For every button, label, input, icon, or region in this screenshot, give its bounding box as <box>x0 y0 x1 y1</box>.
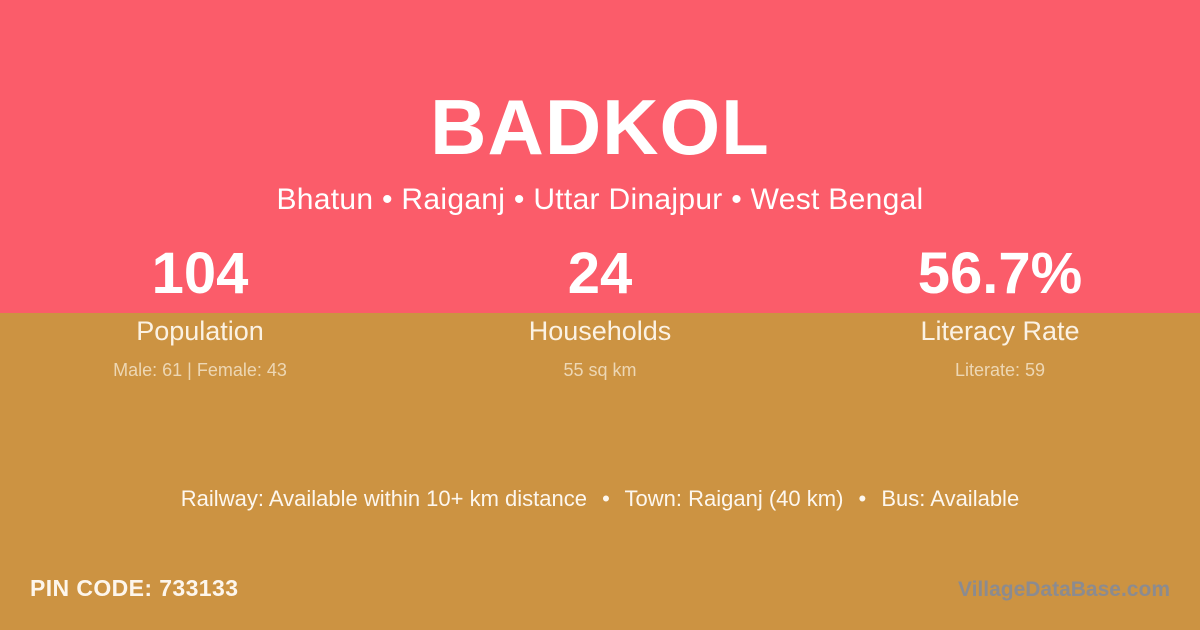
brand-watermark: VillageDataBase.com <box>958 576 1170 603</box>
stat-sub: 55 sq km <box>400 361 800 379</box>
village-info-card: BADKOL Bhatun • Raiganj • Uttar Dinajpur… <box>0 0 1200 630</box>
stat-value: 56.7% <box>800 245 1200 307</box>
stat-label: Literacy Rate <box>800 318 1200 345</box>
stat-label: Households <box>400 318 800 345</box>
pin-code: PIN CODE: 733133 <box>30 574 238 604</box>
stat-sub: Male: 61 | Female: 43 <box>0 361 400 379</box>
stats-row: 104 Population Male: 61 | Female: 43 24 … <box>0 245 1200 379</box>
stat-literacy-rate: 56.7% Literacy Rate Literate: 59 <box>800 245 1200 379</box>
stat-sub: Literate: 59 <box>800 361 1200 379</box>
page-title: BADKOL <box>0 88 1200 166</box>
stat-population: 104 Population Male: 61 | Female: 43 <box>0 245 400 379</box>
amenity-railway: Railway: Available within 10+ km distanc… <box>181 486 587 511</box>
stat-households: 24 Households 55 sq km <box>400 245 800 379</box>
footer: PIN CODE: 733133 VillageDataBase.com <box>0 574 1200 614</box>
amenity-bus: Bus: Available <box>881 486 1019 511</box>
breadcrumb: Bhatun • Raiganj • Uttar Dinajpur • West… <box>0 182 1200 218</box>
stat-value: 104 <box>0 245 400 307</box>
amenity-separator-1: • <box>593 485 619 514</box>
stat-label: Population <box>0 318 400 345</box>
amenities-line: Railway: Available within 10+ km distanc… <box>0 485 1200 514</box>
amenity-town: Town: Raiganj (40 km) <box>625 486 844 511</box>
stat-value: 24 <box>400 245 800 307</box>
amenity-separator-2: • <box>850 485 876 514</box>
